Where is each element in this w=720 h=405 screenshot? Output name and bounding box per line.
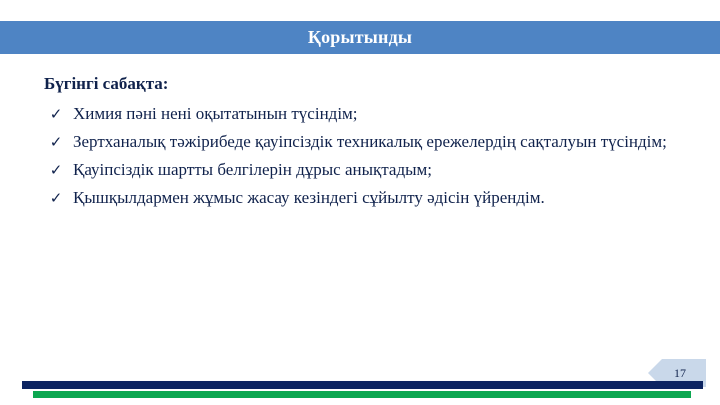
slide: Қорытынды Бүгінгі сабақта: ✓ Химия пәні …	[0, 0, 720, 405]
list-item-label: Химия пәні нені оқытатынын түсіндім;	[73, 104, 358, 123]
check-icon: ✓	[48, 184, 64, 212]
list-item: ✓ Зертханалық тәжірибеде қауіпсіздік тех…	[44, 128, 684, 156]
page-title: Қорытынды	[0, 21, 720, 54]
footer-bar-green	[33, 391, 691, 398]
list-item: ✓ Химия пәні нені оқытатынын түсіндім;	[44, 100, 684, 128]
footer-bar-navy	[22, 381, 703, 389]
slide-body: Бүгінгі сабақта: ✓ Химия пәні нені оқыта…	[44, 72, 684, 212]
list-item: ✓ Қышқылдармен жұмыс жасау кезіндегі сұй…	[44, 184, 684, 212]
check-icon: ✓	[48, 156, 64, 184]
check-icon: ✓	[48, 100, 64, 128]
checklist: ✓ Химия пәні нені оқытатынын түсіндім; ✓…	[44, 100, 684, 212]
list-item: ✓ Қауіпсіздік шартты белгілерін дұрыс ан…	[44, 156, 684, 184]
check-icon: ✓	[48, 128, 64, 156]
list-item-label: Қышқылдармен жұмыс жасау кезіндегі сұйыл…	[73, 188, 545, 207]
list-item-label: Зертханалық тәжірибеде қауіпсіздік техни…	[73, 132, 667, 151]
list-item-label: Қауіпсіздік шартты белгілерін дұрыс анық…	[73, 160, 432, 179]
lead-text: Бүгінгі сабақта:	[44, 72, 684, 96]
